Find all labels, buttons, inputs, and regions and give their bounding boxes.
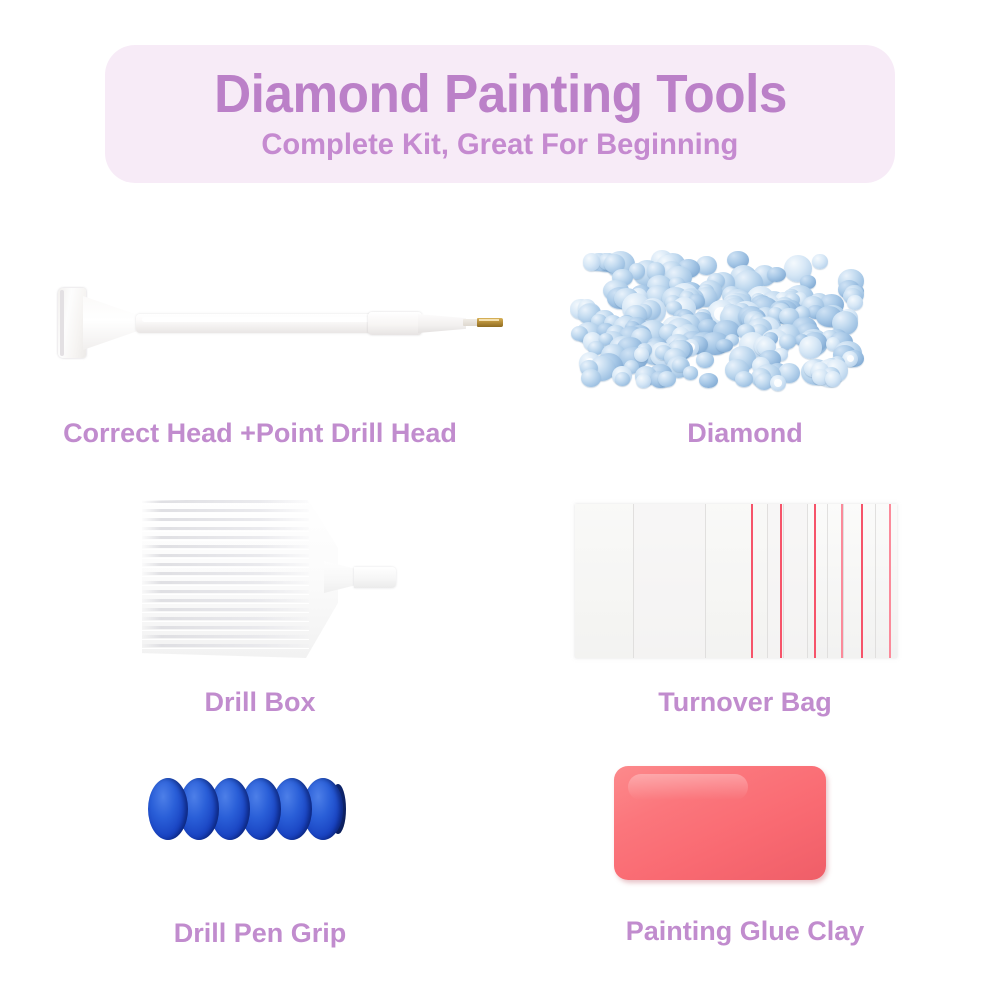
tray-groove-highlight — [141, 504, 309, 505]
diamond-bead — [583, 253, 601, 270]
glue-clay-highlight — [628, 774, 748, 800]
bag-fold-line — [767, 504, 768, 658]
diamond-bead — [696, 352, 714, 368]
tray-groove-highlight — [141, 585, 309, 586]
product-image-drill-box — [20, 490, 500, 665]
tray-groove-highlight — [141, 594, 309, 595]
product-image-pen-grip — [20, 760, 500, 890]
bag-panel — [575, 504, 633, 658]
tray-groove — [141, 554, 309, 557]
tray-groove — [141, 536, 309, 539]
drill-tray-illustration — [138, 496, 398, 658]
bag-fold-line — [807, 504, 808, 658]
product-label-glue-clay: Painting Glue Clay — [510, 916, 980, 947]
tray-groove-highlight — [141, 603, 309, 604]
tray-groove-highlight — [141, 648, 309, 649]
bag-panel — [633, 504, 705, 658]
pen-flare-neck — [83, 296, 139, 350]
tray-groove-group — [138, 496, 338, 658]
tray-groove — [141, 644, 309, 647]
drill-pen-illustration — [58, 278, 503, 368]
tray-groove — [141, 500, 309, 503]
diamond-bead — [825, 371, 841, 387]
product-image-glue-clay — [510, 760, 980, 890]
bag-zip-stripe — [780, 504, 782, 658]
tray-groove — [141, 635, 309, 638]
diamond-bead — [735, 371, 754, 387]
product-cell-drill-box: Drill Box — [20, 490, 500, 718]
tray-groove-highlight — [141, 522, 309, 523]
tray-groove-highlight — [141, 531, 309, 532]
diamond-bead — [683, 366, 699, 380]
pen-blade-edge — [60, 290, 64, 356]
header-banner: Diamond Painting Tools Complete Kit, Gre… — [105, 45, 895, 183]
diamond-bead — [799, 336, 823, 359]
bag-fold-line — [843, 504, 844, 658]
bag-panel — [767, 504, 807, 658]
tray-groove — [141, 572, 309, 575]
tray-groove-highlight — [141, 540, 309, 541]
pen-gold-tip-highlight — [479, 319, 499, 321]
bag-fold-line — [783, 504, 784, 658]
tray-groove — [141, 545, 309, 548]
tray-groove-highlight — [141, 576, 309, 577]
bag-zip-stripe — [861, 504, 863, 658]
pen-collar-ring — [368, 312, 422, 335]
tray-neck — [324, 558, 358, 596]
diamond-bead — [779, 334, 796, 349]
bag-zip-stripe — [814, 504, 816, 658]
product-label-diamond: Diamond — [510, 418, 980, 449]
product-label-turnover-bag: Turnover Bag — [510, 687, 980, 718]
diamond-bead — [812, 254, 827, 269]
tray-groove — [141, 509, 309, 512]
pen-barrel-highlight — [142, 317, 380, 322]
bag-zip-stripe — [751, 504, 753, 658]
tray-spout — [354, 567, 396, 588]
tray-groove-highlight — [141, 513, 309, 514]
tray-groove — [141, 563, 309, 566]
bag-zip-stripe — [889, 504, 891, 658]
bag-fold-line — [875, 504, 876, 658]
tray-groove-highlight — [141, 630, 309, 631]
pen-grip-illustration — [148, 778, 344, 840]
tray-groove-highlight — [141, 621, 309, 622]
product-cell-glue-clay: Painting Glue Clay — [510, 760, 980, 947]
page-title: Diamond Painting Tools — [214, 66, 787, 123]
bag-panel — [705, 504, 767, 658]
diamond-bead — [770, 375, 786, 391]
tray-groove — [141, 518, 309, 521]
product-image-turnover-bag — [510, 490, 980, 665]
tray-groove-highlight — [141, 558, 309, 559]
bag-fold-line — [827, 504, 828, 658]
tray-groove-highlight — [141, 567, 309, 568]
tray-groove — [141, 581, 309, 584]
tray-groove — [141, 608, 309, 611]
diamond-bead — [634, 347, 649, 362]
diamond-bead — [658, 371, 676, 387]
diamond-bead — [699, 373, 718, 389]
tray-groove — [141, 527, 309, 530]
bag-fold-line — [633, 504, 634, 658]
product-label-pen-grip: Drill Pen Grip — [20, 918, 500, 949]
page-subtitle: Complete Kit, Great For Beginning — [262, 128, 739, 162]
diamond-bead — [767, 267, 786, 282]
tray-groove — [141, 626, 309, 629]
pen-grip-segment — [148, 778, 188, 840]
diamond-bead — [615, 372, 630, 386]
glue-clay-illustration — [614, 766, 826, 880]
tray-groove — [141, 599, 309, 602]
product-cell-pen-grip: Drill Pen Grip — [20, 760, 500, 949]
product-cell-correct-head: Correct Head +Point Drill Head — [20, 250, 500, 449]
diamond-drills-illustration — [570, 250, 865, 398]
tray-groove-highlight — [141, 639, 309, 640]
product-label-correct-head: Correct Head +Point Drill Head — [20, 418, 500, 449]
product-cell-turnover-bag: Turnover Bag — [510, 490, 980, 718]
product-cell-diamond: Diamond — [510, 250, 980, 449]
bag-zip-stripe — [841, 504, 843, 658]
pen-nose-cone — [418, 314, 466, 333]
diamond-bead — [847, 295, 863, 311]
product-image-correct-head — [20, 250, 500, 400]
turnover-bag-illustration — [575, 504, 897, 658]
bag-fold-line — [705, 504, 706, 658]
diamond-bead — [581, 369, 601, 387]
tray-groove-highlight — [141, 549, 309, 550]
diamond-bead — [636, 374, 651, 388]
product-label-drill-box: Drill Box — [20, 687, 500, 718]
product-image-diamond — [510, 250, 980, 400]
tray-groove-highlight — [141, 612, 309, 613]
tray-groove — [141, 617, 309, 620]
tray-groove — [141, 590, 309, 593]
